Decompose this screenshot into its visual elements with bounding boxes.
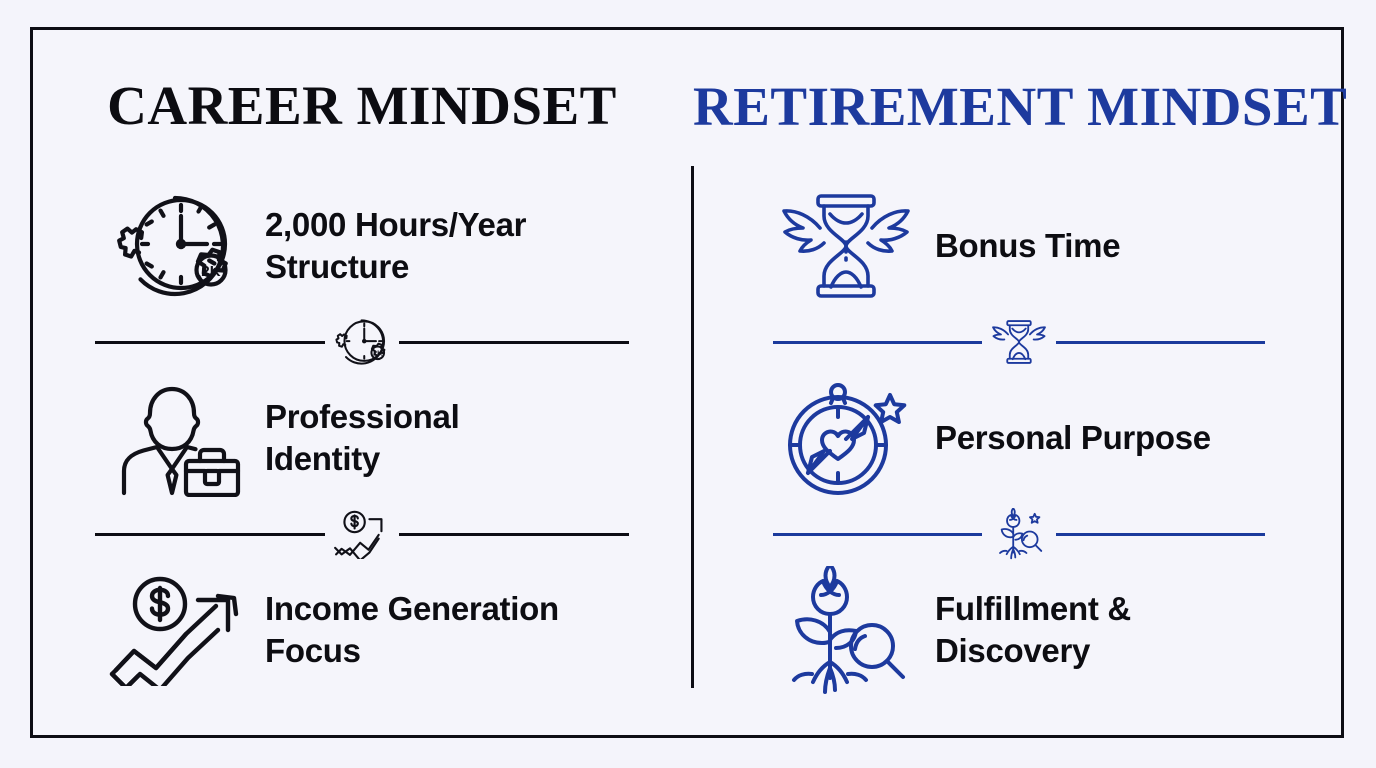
divider-line-right <box>1056 533 1265 536</box>
career-rows: 2K 2,000 Hours/Year Structure <box>33 175 691 701</box>
plant-roots-magnifier-star-icon <box>982 509 1056 559</box>
divider-line-left <box>773 533 982 536</box>
column-title-retirement: RETIREMENT MINDSET <box>693 75 1345 138</box>
row-retirement-purpose: Personal Purpose <box>693 367 1345 509</box>
row-label-line: Discovery <box>935 630 1265 672</box>
row-label-career-hours: 2,000 Hours/Year Structure <box>251 204 605 288</box>
row-label-line: Bonus Time <box>935 225 1265 267</box>
svg-text:2K: 2K <box>201 263 220 280</box>
row-label-retirement-bonus-time: Bonus Time <box>921 225 1265 267</box>
divider-line-right <box>399 341 629 344</box>
infographic-frame: CAREER MINDSET <box>30 27 1344 738</box>
divider-line-right <box>1056 341 1265 344</box>
plant-roots-magnifier-icon <box>771 568 921 693</box>
row-label-line: Fulfillment & <box>935 588 1265 630</box>
winged-hourglass-icon <box>982 317 1056 367</box>
divider-line-left <box>95 533 325 536</box>
row-label-line: Structure <box>265 246 605 288</box>
row-label-line: Focus <box>265 630 605 672</box>
row-career-identity: Professional Identity <box>33 367 691 509</box>
infographic-canvas: CAREER MINDSET <box>0 0 1376 768</box>
dollar-growth-arrow-icon <box>101 568 251 693</box>
row-label-retirement-fulfillment: Fulfillment & Discovery <box>921 588 1265 672</box>
divider-line-right <box>399 533 629 536</box>
row-label-retirement-purpose: Personal Purpose <box>921 417 1265 459</box>
divider-retirement-2 <box>693 509 1345 559</box>
clock-gears-2k-icon: 2K <box>325 317 399 367</box>
row-label-line: Income Generation <box>265 588 605 630</box>
divider-line-left <box>773 341 982 344</box>
column-retirement: RETIREMENT MINDSET <box>693 30 1345 735</box>
retirement-rows: Bonus Time <box>693 175 1345 701</box>
row-label-line: 2,000 Hours/Year <box>265 204 605 246</box>
divider-career-1: 2K <box>33 317 691 367</box>
row-career-hours: 2K 2,000 Hours/Year Structure <box>33 175 691 317</box>
row-career-income: Income Generation Focus <box>33 559 691 701</box>
row-label-line: Identity <box>265 438 605 480</box>
divider-line-left <box>95 341 325 344</box>
row-label-career-income: Income Generation Focus <box>251 588 605 672</box>
row-retirement-fulfillment: Fulfillment & Discovery <box>693 559 1345 701</box>
dollar-growth-arrow-icon <box>325 509 399 559</box>
winged-hourglass-icon <box>771 184 921 309</box>
column-title-career: CAREER MINDSET <box>33 74 691 137</box>
svg-text:2K: 2K <box>373 349 383 358</box>
column-career: CAREER MINDSET <box>33 30 691 735</box>
businessperson-briefcase-icon <box>101 376 251 501</box>
row-label-line: Professional <box>265 396 605 438</box>
row-label-line: Personal Purpose <box>935 417 1265 459</box>
divider-career-2 <box>33 509 691 559</box>
compass-heart-star-icon <box>771 376 921 501</box>
divider-retirement-1 <box>693 317 1345 367</box>
row-label-career-identity: Professional Identity <box>251 396 605 480</box>
clock-gears-2k-icon: 2K <box>101 184 251 309</box>
row-retirement-bonus-time: Bonus Time <box>693 175 1345 317</box>
